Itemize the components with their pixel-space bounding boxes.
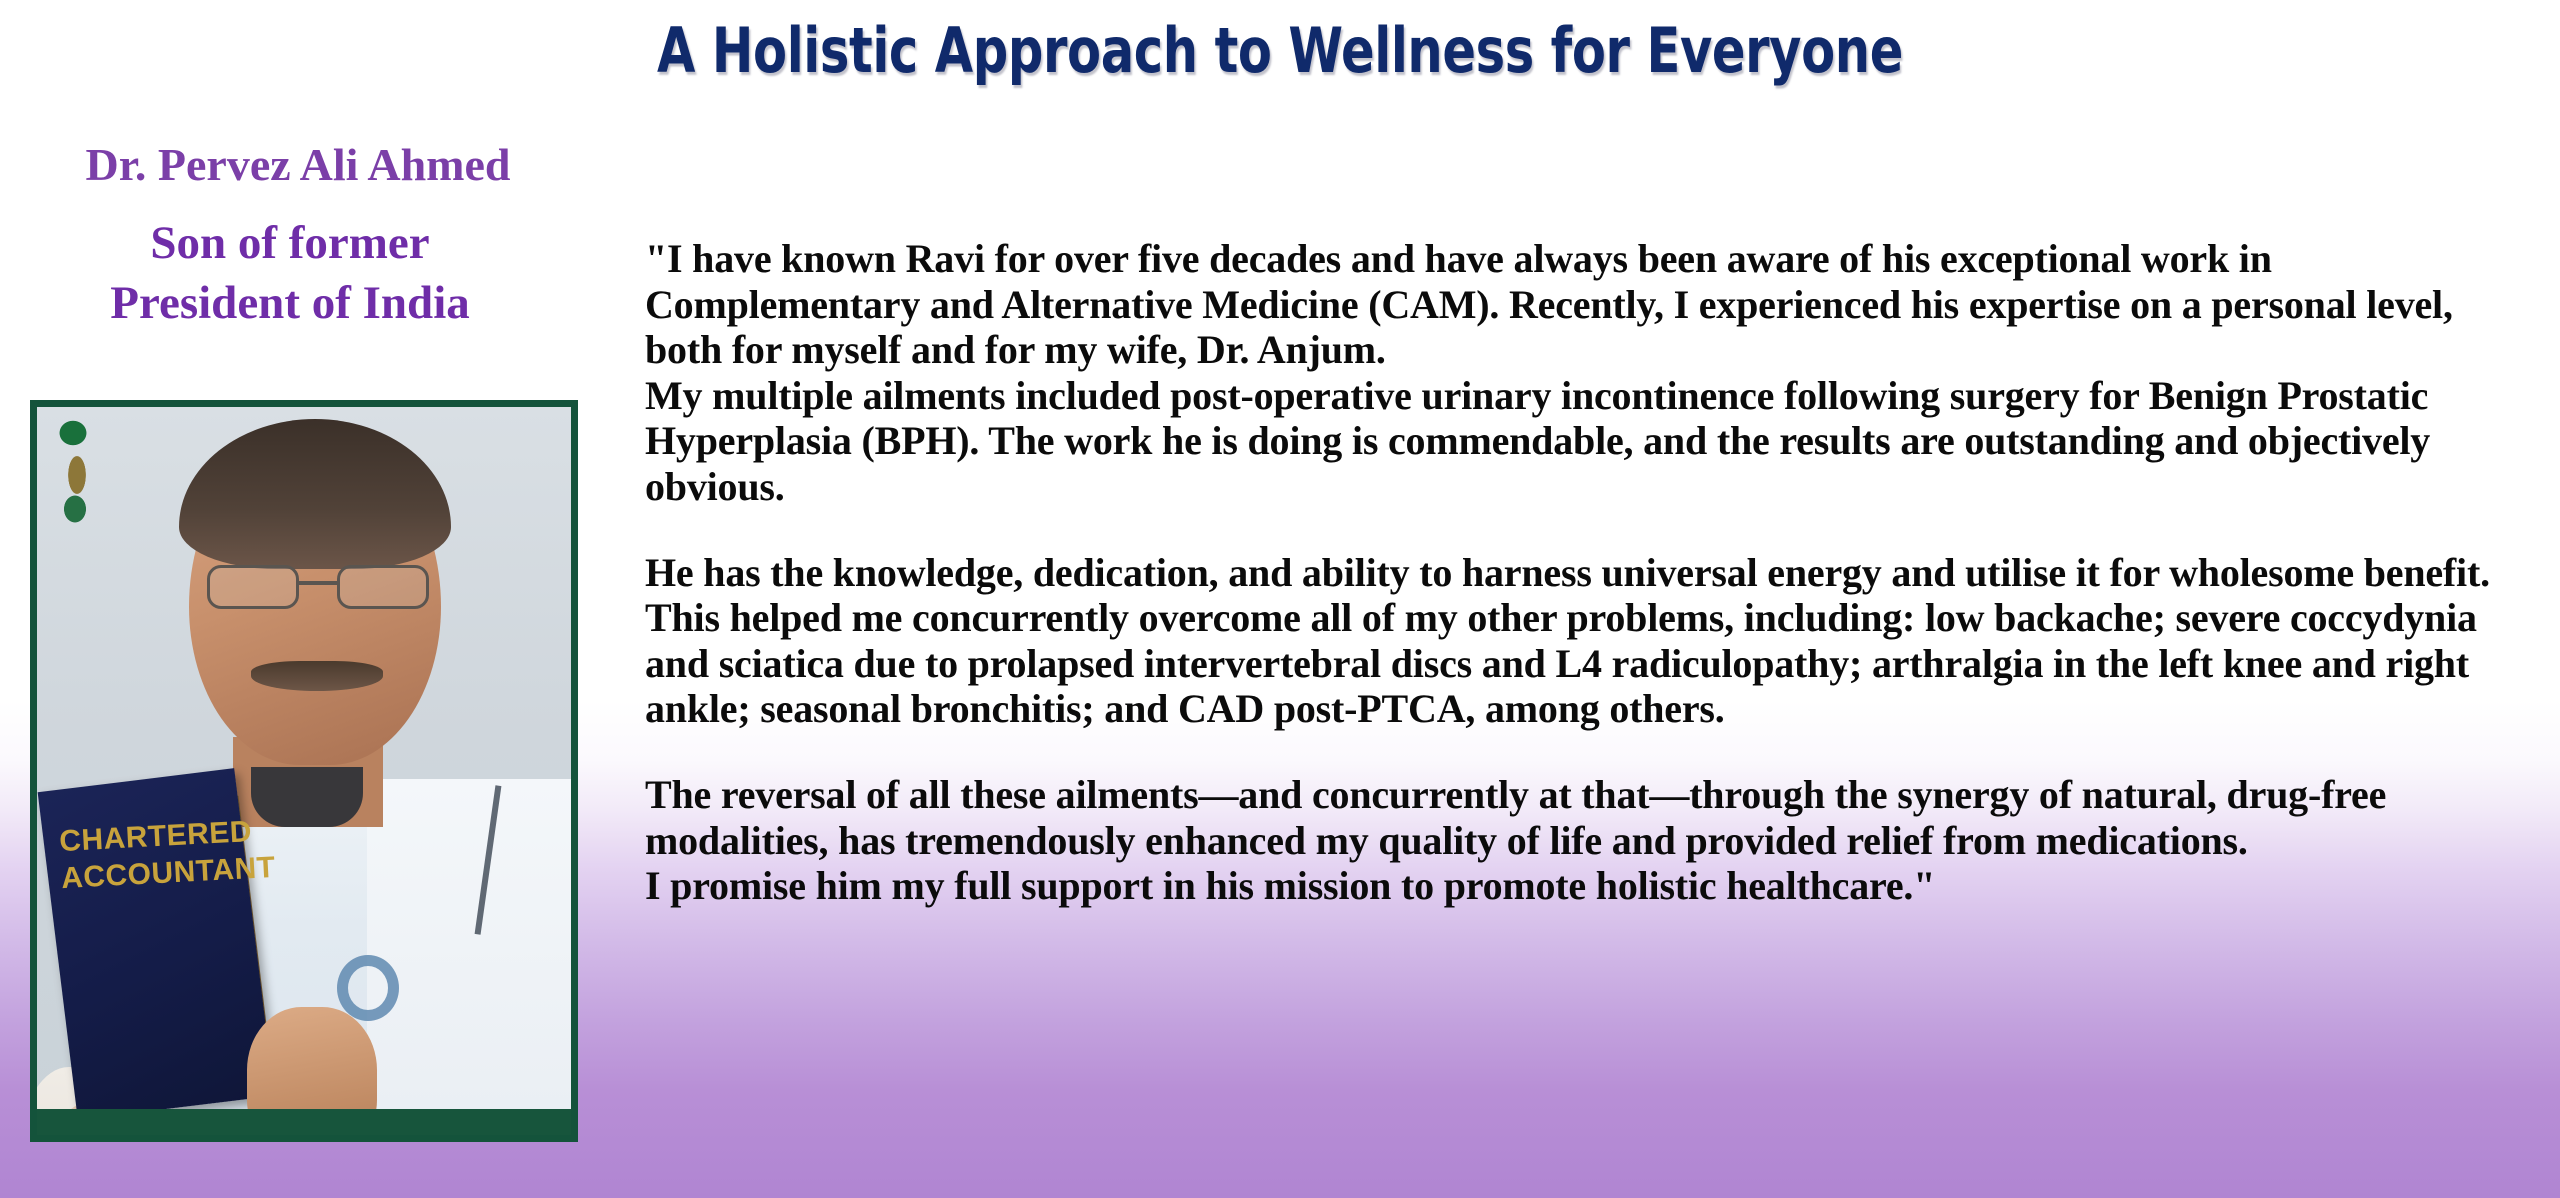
book-title-text: CHARTERED ACCOUNTANT (58, 815, 232, 897)
testimonial-paragraph-3: He has the knowledge, dedication, and ab… (645, 550, 2525, 732)
table-edge (37, 1109, 571, 1135)
lens-right (337, 565, 429, 609)
vest-shape (367, 779, 577, 1142)
doctor-name: Dr. Pervez Ali Ahmed (0, 140, 620, 191)
portrait-photo: CHARTERED ACCOUNTANT (30, 400, 578, 1142)
attribution-block: Dr. Pervez Ali Ahmed Son of former Presi… (0, 140, 620, 333)
testimonial-paragraph-1: "I have known Ravi for over five decades… (645, 236, 2525, 373)
paragraph-spacer-1 (645, 510, 2525, 550)
testimonial-paragraph-4: The reversal of all these ailments—and c… (645, 772, 2525, 863)
attribution-subtitle-line-2: President of India (0, 273, 620, 333)
slide-canvas: A Holistic Approach to Wellness for Ever… (0, 0, 2560, 1198)
moustache-shape (251, 661, 383, 691)
photo-backdrop: CHARTERED ACCOUNTANT (37, 407, 571, 1135)
book-cover: CHARTERED ACCOUNTANT (38, 768, 275, 1120)
attribution-subtitle-line-1: Son of former (0, 213, 620, 273)
paragraph-spacer-2 (645, 732, 2525, 772)
lens-left (207, 565, 299, 609)
collar-shape (251, 767, 363, 827)
page-title: A Holistic Approach to Wellness for Ever… (256, 14, 2304, 87)
hair-shape (179, 419, 451, 569)
emblem-icon (47, 413, 109, 525)
glasses-bridge (299, 581, 337, 585)
testimonial-paragraph-2: My multiple ailments included post-opera… (645, 373, 2525, 510)
testimonial-paragraph-5: I promise him my full support in his mis… (645, 863, 2525, 909)
testimonial-text: "I have known Ravi for over five decades… (645, 236, 2525, 909)
glasses-icon (205, 565, 431, 611)
pocket-emblem-icon (337, 955, 399, 1021)
